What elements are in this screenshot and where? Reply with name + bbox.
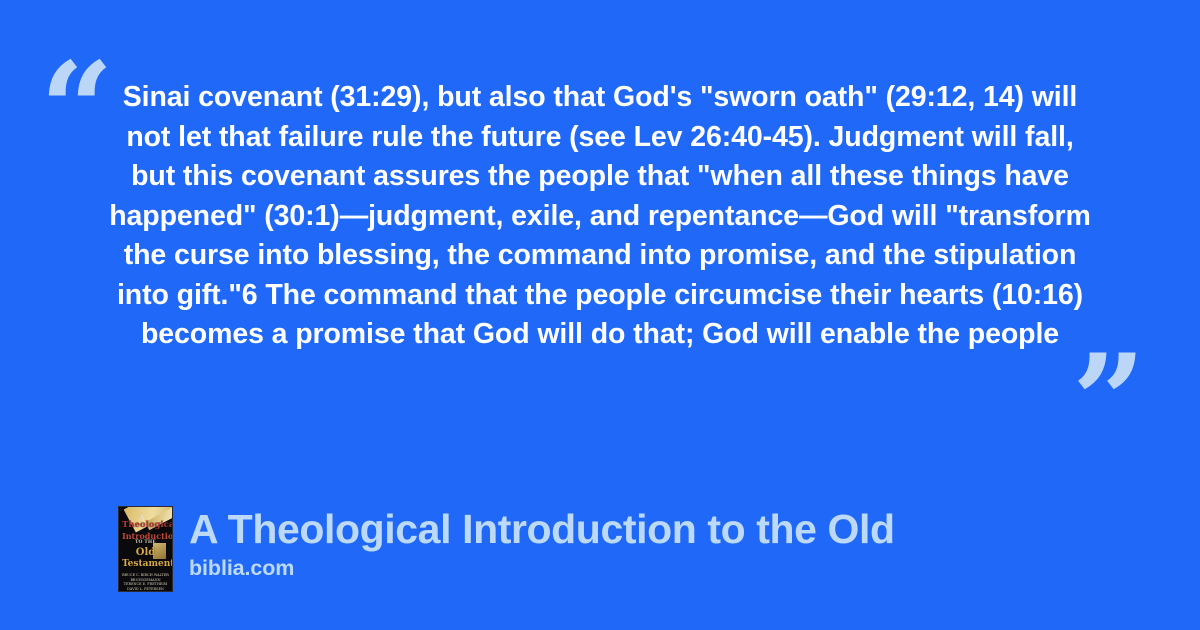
book-cover-thumbnail: A Theological Introduction TO THE Old Te… — [118, 506, 173, 592]
cover-title-line-5: Testament — [122, 560, 169, 569]
footer: A Theological Introduction TO THE Old Te… — [118, 506, 895, 592]
source-site[interactable]: biblia.com — [189, 556, 895, 581]
open-quote-icon: “ — [40, 46, 114, 174]
cover-title-line-2: Introduction — [122, 532, 169, 540]
quote-text: Sinai covenant (31:29), but also that Go… — [108, 78, 1092, 355]
quote-block: “ Sinai covenant (31:29), but also that … — [0, 46, 1200, 406]
book-title: A Theological Introduction to the Old — [189, 506, 895, 552]
cover-authors: BRUCE C. BIRCH WALTER BRUEGGEMANN TERENC… — [122, 573, 169, 591]
close-quote-icon: ” — [1072, 338, 1146, 466]
cover-title-line-1: Theological — [122, 521, 169, 530]
footer-text-group: A Theological Introduction to the Old bi… — [189, 506, 895, 581]
cover-title-line-4: Old — [122, 548, 169, 558]
quote-card: “ Sinai covenant (31:29), but also that … — [0, 0, 1200, 630]
cover-title-line-3: TO THE — [122, 541, 169, 546]
